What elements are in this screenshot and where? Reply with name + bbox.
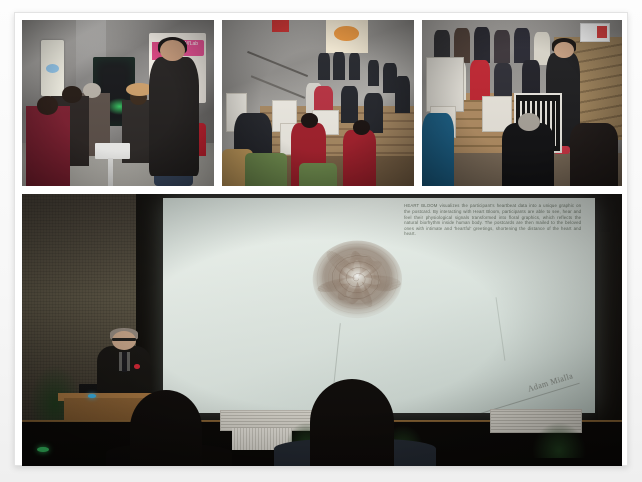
foreground-person-red-2 [343,130,376,186]
photo-bottom: HEART BLOOM visualizes the participant's… [22,194,622,466]
poster-left [41,40,64,96]
stage-plant-3 [532,422,586,457]
table-leg [108,158,113,186]
foreground-person-right [570,123,618,186]
photo-top-left: M'Lab [22,20,214,186]
foreground-person-dark [502,123,554,186]
standing-person-1 [318,53,330,80]
foreground-grey-head [518,113,540,131]
green-chair-1 [245,153,287,186]
speaker-body [149,57,199,177]
slide-body-text: HEART BLOOM visualizes the participant's… [404,203,581,236]
photo-top-right [422,20,622,186]
visitor-head-2 [62,86,81,103]
foreground-head-2 [353,120,370,135]
audience-mid-red [470,60,490,100]
audience-upper-3 [474,27,490,64]
display-cabinet [426,57,464,112]
standing-person-3 [349,53,361,80]
demonstrator-head [554,42,574,59]
foreground-head-1 [301,113,318,128]
presenter-glasses [112,338,136,342]
audience-upper-4 [494,30,510,63]
seated-visitor-1 [26,106,70,186]
green-chair-2 [299,163,337,186]
slide-content: HEART BLOOM visualizes the participant's… [163,198,595,413]
podium-indicator-light [88,394,96,398]
projection-screen: HEART BLOOM visualizes the participant's… [163,198,595,413]
seated-person-1 [368,60,380,87]
audience-mid-dark [494,63,512,100]
audience-head-center [310,379,394,466]
screen-scratch-2 [495,297,505,361]
photo-collage: M'Lab [0,0,642,482]
red-banner [272,20,289,32]
photo-top-middle [222,20,414,186]
presenter-lapel-pin [134,364,141,369]
wall-sign [580,23,610,42]
orange-banner [326,20,368,53]
top-photo-row: M'Lab [22,20,622,186]
seated-person-3 [395,76,410,113]
slide-description: HEART BLOOM visualizes the participant's… [404,203,581,237]
seated-person-4 [341,86,358,123]
heart-bloom-graphic [258,228,457,340]
audience-head-left [130,390,202,466]
foreground-person-blue [422,113,454,186]
standing-person-2 [333,52,345,80]
presenter-tie [122,352,127,372]
audience-upper-5 [514,28,530,63]
visitor-head-1 [37,96,58,114]
